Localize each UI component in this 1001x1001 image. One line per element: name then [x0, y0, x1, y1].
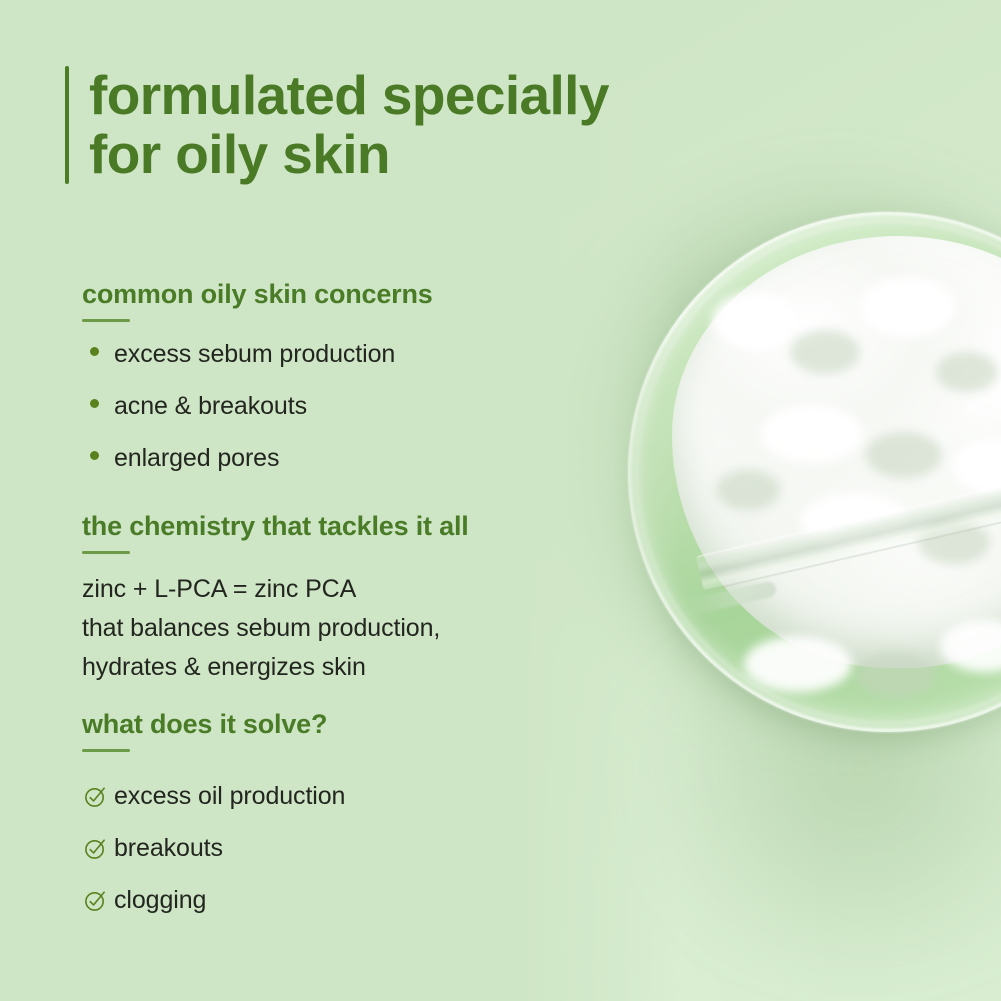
section-rule	[82, 749, 130, 752]
list-item-label: excess sebum production	[114, 340, 395, 369]
concerns-list: excess sebum production acne & breakouts…	[82, 340, 433, 496]
list-item-label: enlarged pores	[114, 444, 279, 473]
list-item-label: breakouts	[114, 834, 223, 863]
check-circle-icon	[84, 837, 107, 860]
headline-accent-bar	[65, 66, 69, 184]
list-item: acne & breakouts	[82, 392, 433, 444]
section-heading: what does it solve?	[82, 708, 345, 740]
check-circle-icon	[84, 889, 107, 912]
list-item-label: excess oil production	[114, 782, 345, 811]
list-item: excess sebum production	[82, 340, 433, 392]
section-heading: the chemistry that tackles it all	[82, 510, 469, 542]
page-title: formulated specially for oily skin	[89, 66, 609, 184]
section-chemistry: the chemistry that tackles it all zinc +…	[82, 510, 469, 712]
section-what-it-solves: what does it solve? excess oil productio…	[82, 708, 345, 926]
list-item-label: clogging	[114, 886, 206, 915]
bullet-dot-icon	[90, 347, 99, 356]
list-item: clogging	[82, 874, 345, 926]
section-rule	[82, 319, 130, 322]
product-infographic: formulated specially for oily skin commo…	[0, 0, 1001, 1001]
chemistry-body-text: zinc + L-PCA = zinc PCA that balances se…	[82, 570, 469, 687]
section-heading: common oily skin concerns	[82, 278, 433, 310]
check-circle-icon	[84, 785, 107, 808]
headline-block: formulated specially for oily skin	[65, 66, 609, 184]
solves-list: excess oil production breakouts clogging	[82, 770, 345, 926]
list-item: enlarged pores	[82, 444, 433, 496]
bullet-dot-icon	[90, 451, 99, 460]
bullet-dot-icon	[90, 399, 99, 408]
section-rule	[82, 551, 130, 554]
list-item-label: acne & breakouts	[114, 392, 307, 421]
content-column: formulated specially for oily skin commo…	[0, 0, 1001, 1001]
list-item: breakouts	[82, 822, 345, 874]
list-item: excess oil production	[82, 770, 345, 822]
section-common-concerns: common oily skin concerns excess sebum p…	[82, 278, 433, 496]
